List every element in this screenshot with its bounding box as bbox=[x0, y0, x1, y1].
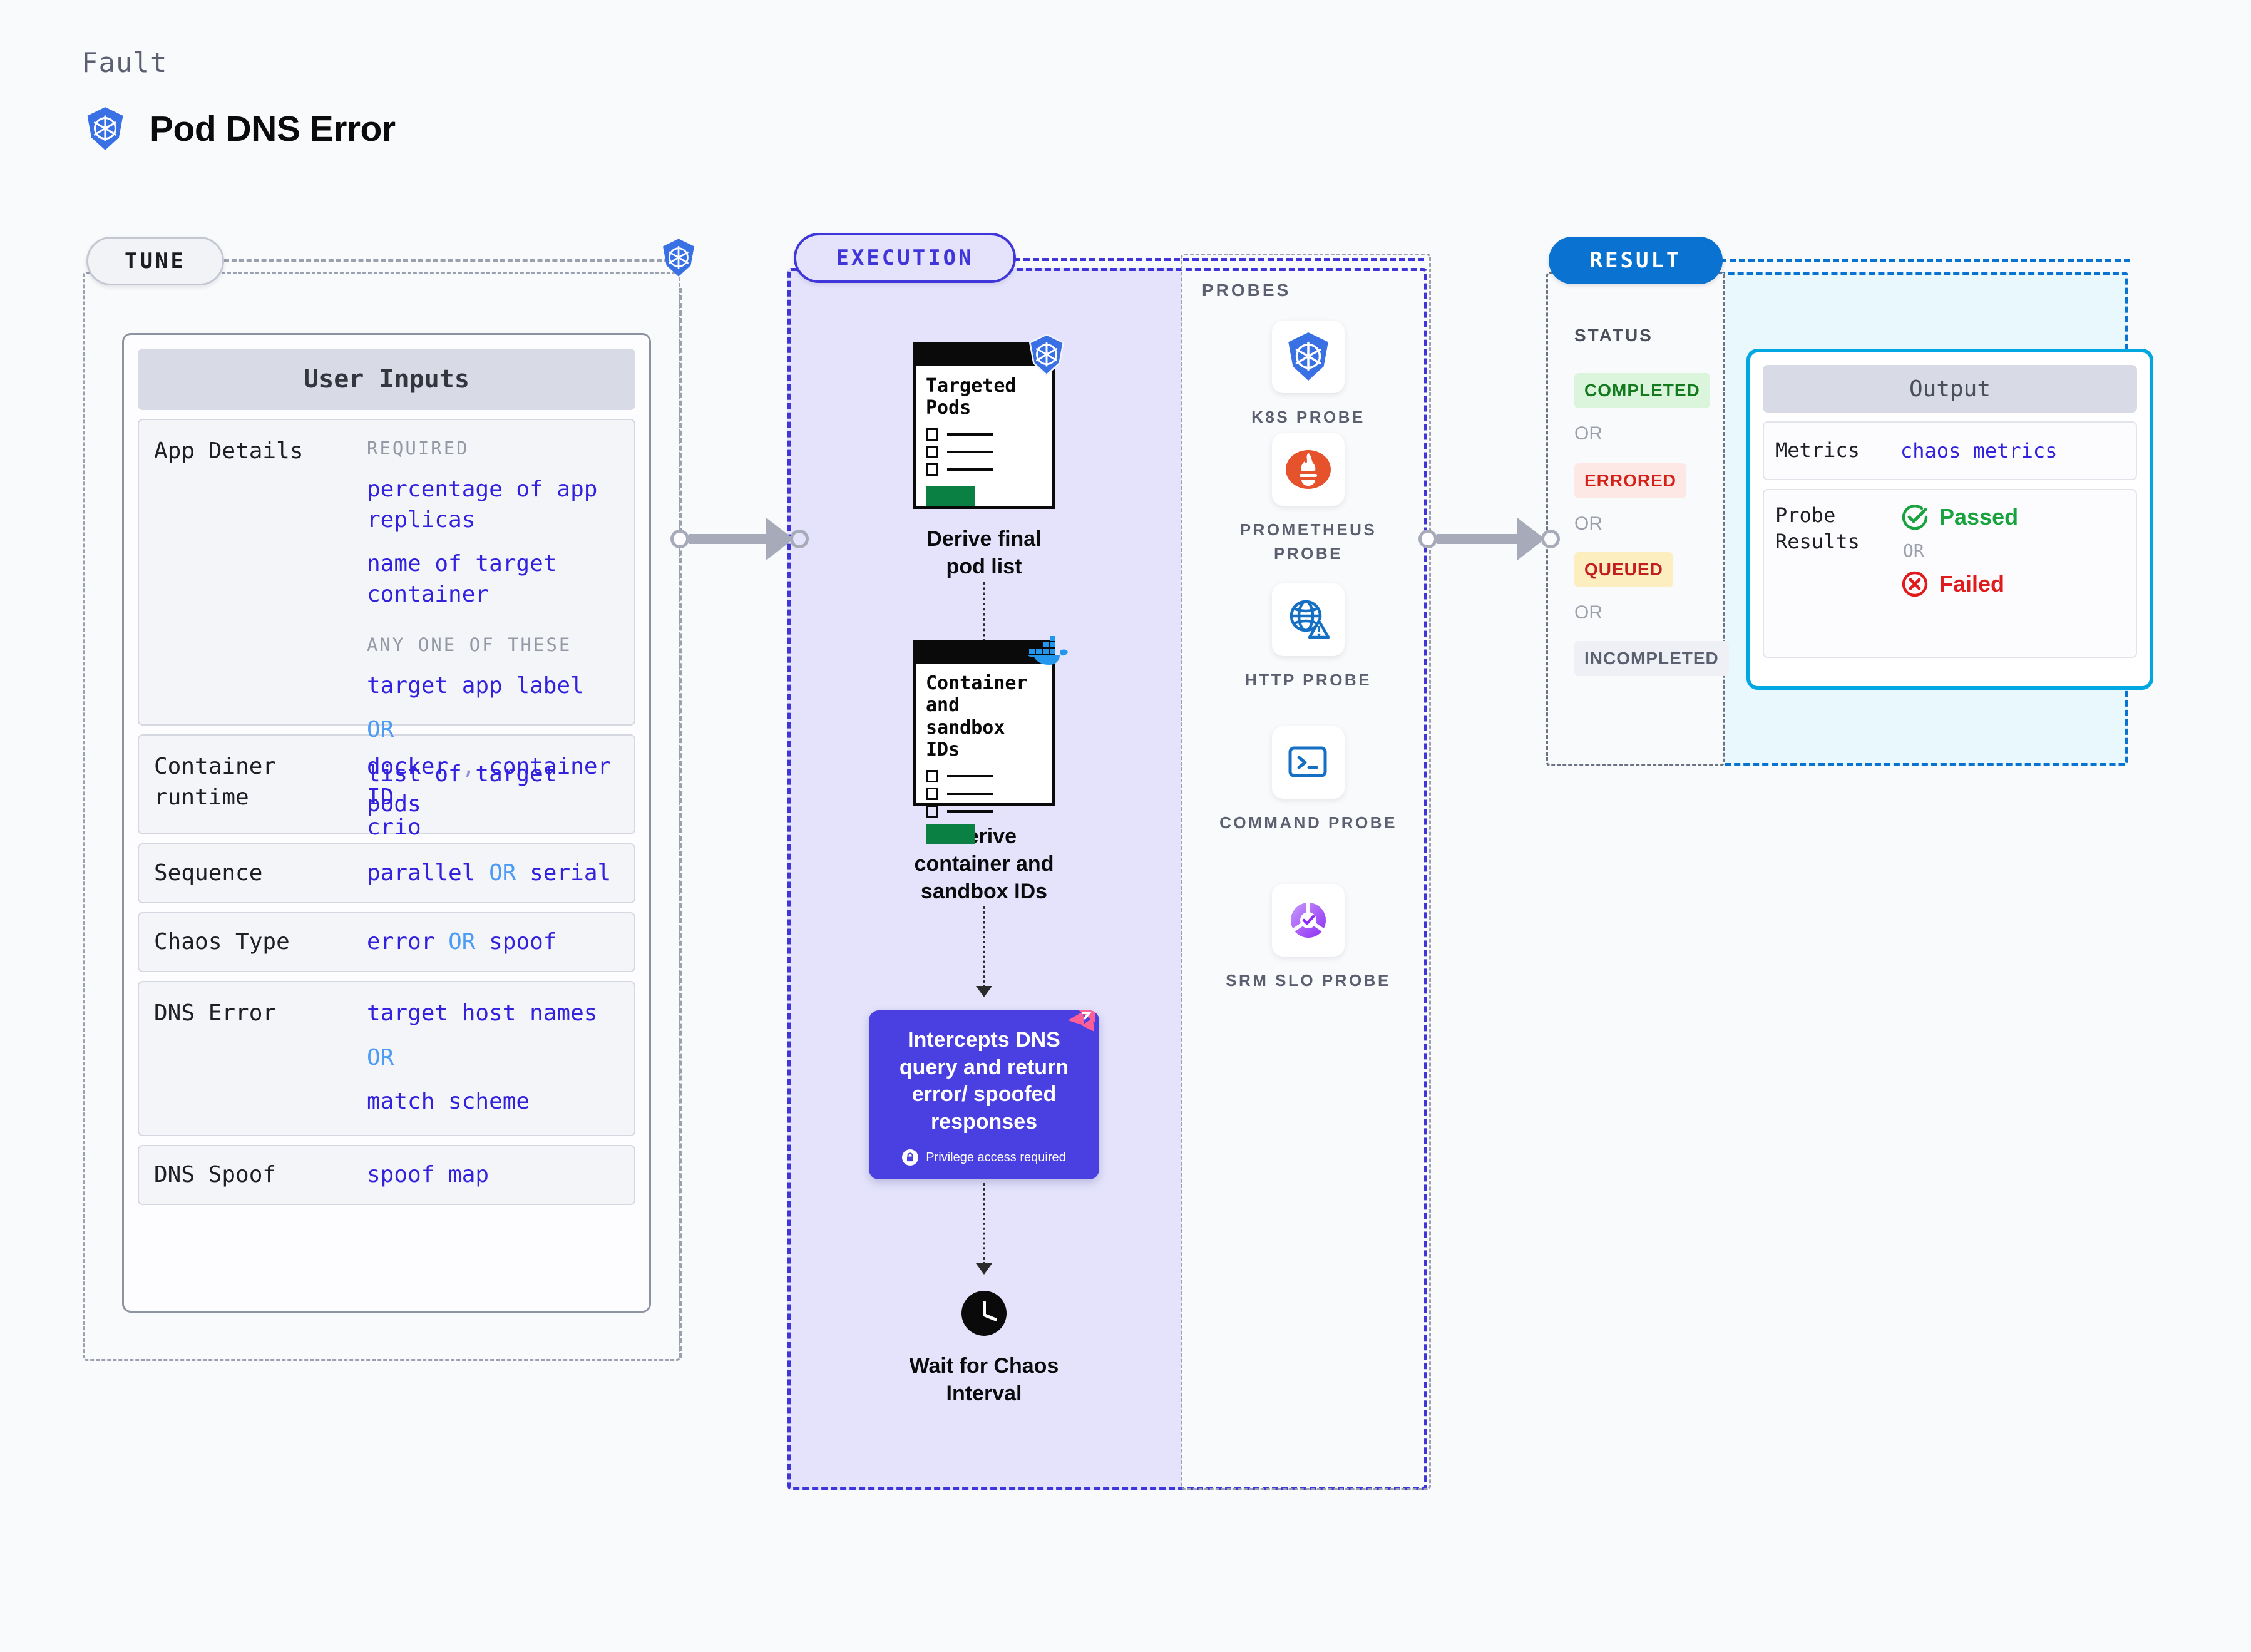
value-item: parallel bbox=[367, 860, 475, 886]
or-separator: OR bbox=[367, 1043, 619, 1074]
status-subregion bbox=[1546, 272, 1725, 766]
connector-bar bbox=[689, 534, 767, 544]
value-item: docker bbox=[367, 754, 448, 779]
line-placeholder bbox=[947, 451, 993, 453]
connector-tune-to-execution bbox=[670, 518, 809, 560]
flow-node-targeted-pods: Targeted Pods Derive final pod list bbox=[913, 366, 1055, 580]
page-title: Pod DNS Error bbox=[150, 108, 396, 150]
output-metrics-value: chaos metrics bbox=[1900, 439, 2125, 463]
table-row: Sequence parallel OR serial bbox=[138, 843, 635, 903]
row-value-app-details: REQUIRED percentage of app replicas name… bbox=[367, 436, 619, 708]
flow-arrow-head bbox=[976, 986, 992, 997]
flow-node-container-sandbox: Container and sandbox IDs Derive contain… bbox=[913, 664, 1055, 906]
result-connector-dashline bbox=[1720, 259, 2130, 262]
table-row: Chaos Type error OR spoof bbox=[138, 912, 635, 972]
checkbox-icon bbox=[926, 463, 938, 476]
flow-node-caption: Wait for Chaos Interval bbox=[908, 1352, 1060, 1407]
row-value-dns-spoof: spoof map bbox=[367, 1160, 619, 1191]
result-stage-pill[interactable]: RESULT bbox=[1549, 237, 1723, 284]
output-probe-results-label: Probe Results bbox=[1775, 503, 1900, 644]
list-item bbox=[926, 770, 1042, 782]
probe-item-http[interactable]: HTTP PROBE bbox=[1214, 583, 1402, 692]
group-tag-required: REQUIRED bbox=[367, 436, 619, 461]
or-separator: OR bbox=[1574, 602, 1602, 623]
probe-label: COMMAND PROBE bbox=[1219, 811, 1397, 835]
row-label-container-runtime: Container runtime bbox=[154, 752, 367, 817]
probe-label: HTTP PROBE bbox=[1245, 669, 1372, 692]
probe-result-failed: Failed bbox=[1900, 570, 2125, 598]
kubernetes-icon bbox=[85, 106, 126, 151]
row-label-dns-error: DNS Error bbox=[154, 998, 367, 1119]
probe-item-prometheus[interactable]: PROMETHEUS PROBE bbox=[1214, 433, 1402, 565]
x-circle-icon bbox=[1900, 570, 1929, 598]
line-placeholder bbox=[947, 468, 993, 471]
or-separator: OR bbox=[1574, 423, 1602, 444]
probe-label: SRM SLO PROBE bbox=[1226, 969, 1391, 993]
value-item: spoof bbox=[489, 929, 556, 955]
probe-item-command[interactable]: COMMAND PROBE bbox=[1214, 726, 1402, 835]
output-title: Output bbox=[1763, 365, 2137, 413]
document-checklist bbox=[916, 419, 1052, 476]
tune-right-dashline bbox=[679, 288, 682, 1358]
list-item bbox=[926, 428, 1042, 441]
probe-label: K8S PROBE bbox=[1251, 406, 1365, 429]
checkbox-icon bbox=[926, 446, 938, 458]
connector-dot bbox=[670, 530, 689, 548]
document-card: Targeted Pods bbox=[913, 366, 1055, 509]
flow-node-caption: Derive final pod list bbox=[913, 525, 1055, 580]
value-item: target host names bbox=[367, 998, 619, 1029]
or-separator: OR bbox=[1903, 540, 2125, 561]
flow-node-wait-interval: Wait for Chaos Interval bbox=[908, 1291, 1060, 1407]
or-separator: OR bbox=[448, 929, 475, 955]
connector-dot bbox=[790, 530, 809, 548]
document-progress-bar bbox=[926, 824, 975, 844]
action-box-intercept-dns: Intercepts DNS query and return error/ s… bbox=[869, 1010, 1099, 1179]
action-box-text: Intercepts DNS query and return error/ s… bbox=[884, 1027, 1084, 1136]
output-metrics-label: Metrics bbox=[1775, 438, 1900, 464]
flow-arrow-line bbox=[983, 582, 985, 642]
lock-icon bbox=[902, 1149, 918, 1166]
terminal-icon bbox=[1272, 726, 1345, 799]
group-tag-any-one: ANY ONE OF THESE bbox=[367, 633, 619, 657]
row-value-chaos-type: error OR spoof bbox=[367, 927, 619, 958]
probe-results-values: Passed OR Failed bbox=[1900, 503, 2125, 644]
flow-arrow-line bbox=[983, 906, 985, 988]
table-row: Metrics chaos metrics bbox=[1763, 421, 2137, 480]
status-badge-incompleted: INCOMPLETED bbox=[1574, 641, 1729, 676]
or-separator: OR bbox=[367, 715, 619, 746]
probe-result-pass-label: Passed bbox=[1939, 504, 2018, 530]
page-title-row: Pod DNS Error bbox=[85, 106, 396, 151]
document-progress-bar bbox=[926, 486, 975, 506]
or-separator: OR bbox=[1574, 513, 1602, 535]
or-separator: OR bbox=[489, 860, 516, 886]
line-placeholder bbox=[947, 810, 993, 813]
row-value-container-runtime: docker , container ID crio bbox=[367, 752, 619, 817]
connector-dot bbox=[1541, 530, 1560, 548]
line-placeholder bbox=[947, 793, 993, 795]
probe-result-fail-label: Failed bbox=[1939, 571, 2004, 597]
probes-section-label: PROBES bbox=[1202, 280, 1291, 300]
value-item: spoof map bbox=[367, 1162, 489, 1188]
fault-kicker: Fault bbox=[81, 47, 167, 79]
row-label-dns-spoof: DNS Spoof bbox=[154, 1160, 367, 1191]
status-badge-completed: COMPLETED bbox=[1574, 373, 1710, 408]
list-item bbox=[926, 446, 1042, 458]
probe-item-k8s[interactable]: K8S PROBE bbox=[1214, 321, 1402, 429]
line-placeholder bbox=[947, 775, 993, 777]
document-checklist bbox=[916, 761, 1052, 818]
value-item: crio bbox=[367, 813, 619, 843]
row-value-sequence: parallel OR serial bbox=[367, 858, 619, 889]
prometheus-icon bbox=[1272, 433, 1345, 506]
user-inputs-card: User Inputs App Details REQUIRED percent… bbox=[122, 333, 651, 1313]
status-badge-errored: ERRORED bbox=[1574, 463, 1686, 498]
checkbox-icon bbox=[926, 428, 938, 441]
table-row: App Details REQUIRED percentage of app r… bbox=[138, 419, 635, 726]
diagram-canvas: Fault Pod DNS Erro bbox=[0, 0, 2251, 1652]
privilege-note-text: Privilege access required bbox=[926, 1151, 1065, 1165]
litmus-icon bbox=[1057, 1010, 1099, 1049]
kubernetes-icon bbox=[1272, 321, 1345, 393]
status-label: STATUS bbox=[1574, 326, 1653, 346]
connector-dot bbox=[1418, 530, 1437, 548]
check-circle-icon bbox=[1900, 503, 1929, 531]
privilege-note: Privilege access required bbox=[884, 1149, 1084, 1166]
value-item: serial bbox=[530, 860, 611, 886]
output-card: Output Metrics chaos metrics Probe Resul… bbox=[1746, 349, 2153, 690]
row-label-app-details: App Details bbox=[154, 436, 367, 708]
probe-label: PROMETHEUS PROBE bbox=[1214, 518, 1402, 565]
table-row: Probe Results Passed OR Failed bbox=[1763, 489, 2137, 658]
list-item bbox=[926, 788, 1042, 800]
slo-donut-icon bbox=[1272, 884, 1345, 957]
globe-warning-icon bbox=[1272, 583, 1345, 656]
checkbox-icon bbox=[926, 788, 938, 800]
tune-connector-dashline bbox=[224, 259, 684, 262]
value-item: target app label bbox=[367, 671, 619, 702]
document-card: Container and sandbox IDs bbox=[913, 664, 1055, 806]
row-value-dns-error: target host names OR match scheme bbox=[367, 998, 619, 1119]
status-badge-queued: QUEUED bbox=[1574, 552, 1673, 587]
checkbox-icon bbox=[926, 770, 938, 782]
value-item: match scheme bbox=[367, 1087, 619, 1117]
list-item bbox=[926, 805, 1042, 818]
value-separator: , bbox=[462, 754, 476, 779]
document-title: Container and sandbox IDs bbox=[916, 664, 1052, 761]
docker-icon bbox=[1026, 635, 1071, 674]
tune-stage-pill[interactable]: TUNE bbox=[86, 237, 224, 285]
connector-bar bbox=[1437, 534, 1519, 544]
row-label-sequence: Sequence bbox=[154, 858, 367, 889]
probe-result-passed: Passed bbox=[1900, 503, 2125, 531]
flow-arrow-line bbox=[983, 1183, 985, 1265]
list-item bbox=[926, 463, 1042, 476]
table-row: DNS Spoof spoof map bbox=[138, 1145, 635, 1205]
row-label-chaos-type: Chaos Type bbox=[154, 927, 367, 958]
value-item: percentage of app replicas bbox=[367, 475, 619, 535]
value-item: error bbox=[367, 929, 434, 955]
user-inputs-title: User Inputs bbox=[138, 349, 635, 410]
kubernetes-icon bbox=[660, 238, 697, 281]
line-placeholder bbox=[947, 433, 993, 436]
probe-item-srm-slo[interactable]: SRM SLO PROBE bbox=[1214, 884, 1402, 993]
checkbox-icon bbox=[926, 805, 938, 818]
execution-stage-pill[interactable]: EXECUTION bbox=[794, 233, 1016, 283]
kubernetes-icon bbox=[1027, 334, 1066, 379]
clock-icon bbox=[961, 1291, 1007, 1336]
table-row: DNS Error target host names OR match sch… bbox=[138, 981, 635, 1136]
flow-arrow-head bbox=[976, 1263, 992, 1275]
connector-execution-to-result bbox=[1418, 518, 1560, 560]
value-item: name of target container bbox=[367, 549, 619, 610]
